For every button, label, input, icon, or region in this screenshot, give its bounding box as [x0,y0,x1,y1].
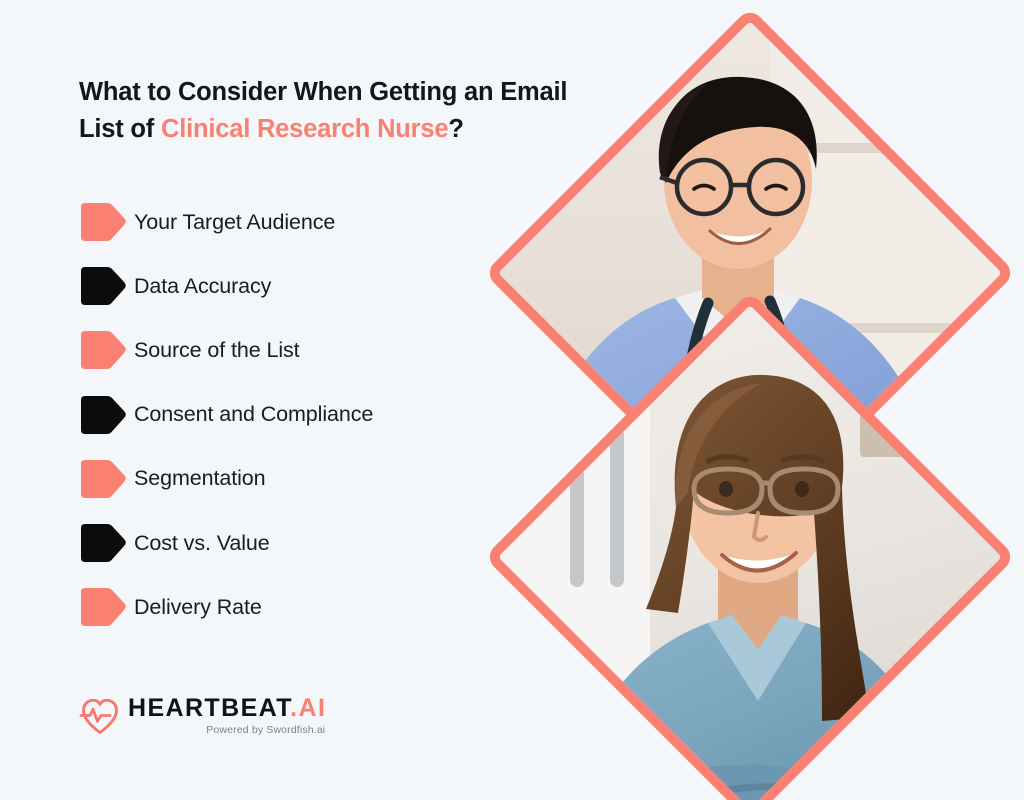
heartbeat-pulse-icon [79,696,121,736]
brand-tagline: Powered by Swordfish.ai [206,723,325,737]
brand-wordmark: HEARTBEAT.AI [128,694,326,722]
brand-main: HEARTBEAT [128,694,290,722]
list-item-label: Source of the List [134,338,300,363]
list-item-label: Your Target Audience [134,210,335,235]
list-item-label: Delivery Rate [134,595,262,620]
nurse-female-photo [484,291,1016,800]
arrow-tag-bullet-icon [79,329,128,371]
list-item-label: Consent and Compliance [134,402,373,427]
brand-logo[interactable]: HEARTBEAT.AI Powered by Swordfish.ai [79,694,326,737]
heading-line-1: What to Consider When Getting an Email [79,78,567,106]
arrow-tag-bullet-icon [79,586,128,628]
heading-accent-role: Clinical Research Nurse [161,115,448,143]
arrow-tag-bullet-icon [79,458,128,500]
list-item: Data Accuracy [79,254,549,318]
heading-line-2-prefix: List of [79,115,161,143]
photo-diamond-bottom [484,291,1016,800]
brand-suffix: .AI [290,694,326,722]
arrow-tag-bullet-icon [79,201,128,243]
list-item-label: Segmentation [134,466,265,491]
page-title: What to Consider When Getting an Email L… [79,74,659,148]
arrow-tag-bullet-icon [79,522,128,564]
arrow-tag-bullet-icon [79,394,128,436]
list-item: Consent and Compliance [79,383,549,447]
arrow-tag-bullet-icon [79,265,128,307]
consideration-list: Your Target AudienceData AccuracySource … [79,190,549,639]
list-item: Delivery Rate [79,575,549,639]
list-item-label: Cost vs. Value [134,531,270,556]
heading-line-2-suffix: ? [448,115,463,143]
list-item: Segmentation [79,447,549,511]
list-item: Source of the List [79,318,549,382]
logo-text-group: HEARTBEAT.AI Powered by Swordfish.ai [128,694,326,737]
list-item-label: Data Accuracy [134,274,271,299]
list-item: Your Target Audience [79,190,549,254]
poster-canvas: What to Consider When Getting an Email L… [0,0,1024,800]
list-item: Cost vs. Value [79,511,549,575]
